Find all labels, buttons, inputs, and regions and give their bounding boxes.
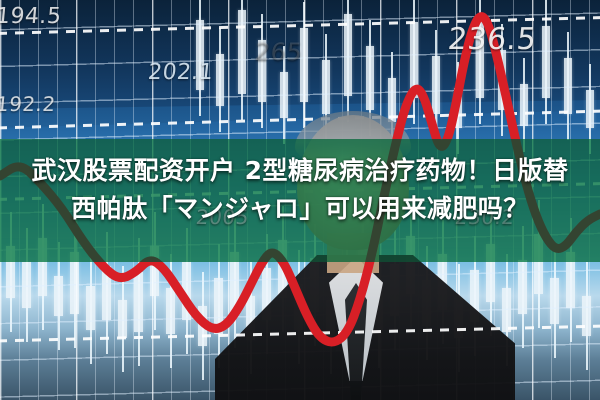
headline-line-1: 武汉股票配资开户 2型糖尿病治疗药物！日版替: [6, 152, 594, 190]
value-label-265-ghost: 265: [254, 38, 304, 66]
value-label-202-1: 202.1: [147, 60, 215, 85]
value-label-194-5: 194.5: [0, 4, 63, 29]
banner-image: 194.5 192.2 202.1 236.5 265 2005 230.2 武…: [0, 0, 600, 400]
value-label-192-2: 192.2: [0, 92, 57, 116]
value-label-236-5: 236.5: [446, 22, 538, 57]
headline-line-2: 西帕肽「マンジャロ」可以用来减肥吗？: [6, 190, 594, 228]
headline-text: 武汉股票配资开户 2型糖尿病治疗药物！日版替 西帕肽「マンジャロ」可以用来减肥吗…: [0, 152, 600, 228]
